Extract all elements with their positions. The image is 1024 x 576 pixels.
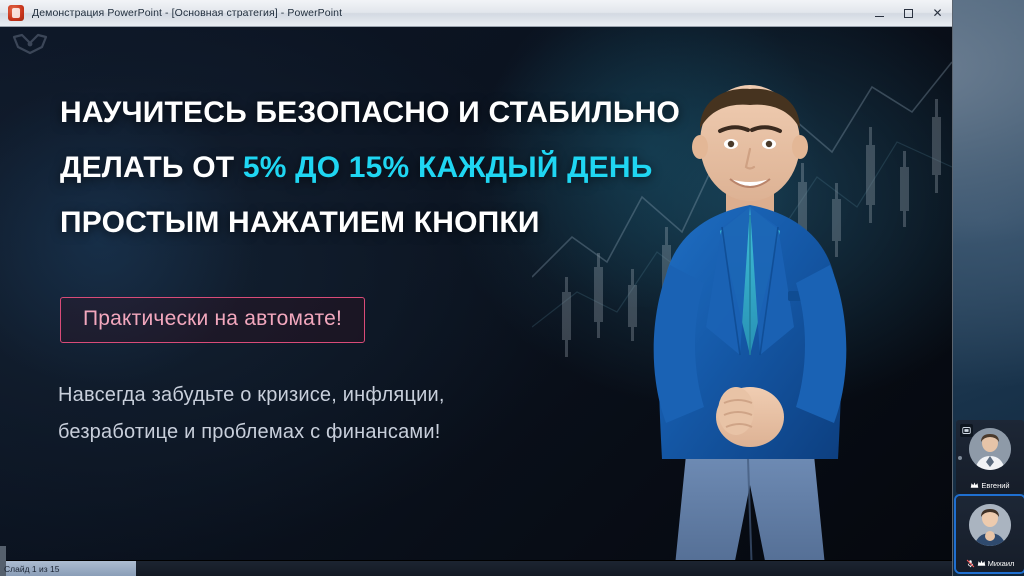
brand-mark-logo	[8, 31, 52, 61]
headline-line-2-prefix: ДЕЛАТЬ ОТ	[60, 151, 243, 184]
window-titlebar[interactable]: Демонстрация PowerPoint - [Основная стра…	[0, 0, 952, 27]
avatar	[969, 504, 1011, 546]
video-call-rail: Евгений	[952, 0, 1024, 576]
headline-line-3: ПРОСТЫМ НАЖАТИЕМ КНОПКИ	[60, 195, 680, 250]
slide-canvas[interactable]: НАУЧИТЕСЬ БЕЗОПАСНО И СТАБИЛЬНО ДЕЛАТЬ О…	[0, 27, 952, 560]
headline-line-2: ДЕЛАТЬ ОТ 5% ДО 15% КАЖДЫЙ ДЕНЬ	[60, 140, 680, 195]
maximize-button[interactable]	[894, 0, 923, 26]
window-title: Демонстрация PowerPoint - [Основная стра…	[32, 7, 342, 19]
screenshot-root: Демонстрация PowerPoint - [Основная стра…	[0, 0, 1024, 576]
close-icon: ✕	[932, 7, 942, 19]
close-button[interactable]: ✕	[923, 0, 952, 26]
participant-tile-evgeniy[interactable]: Евгений	[956, 420, 1024, 494]
tile-label: Евгений	[956, 481, 1024, 490]
slide-subtext: Навсегда забудьте о кризисе, инфляции, б…	[58, 377, 528, 451]
slide-counter: Слайд 1 из 15	[0, 564, 59, 574]
tile-label: Михаил	[956, 559, 1024, 568]
crown-icon	[970, 481, 979, 490]
mic-muted-icon	[966, 559, 975, 568]
subtext-line-2: безработице и проблемах с финансами!	[58, 414, 528, 451]
cta-box: Практически на автомате!	[60, 297, 365, 343]
window-controls: ✕	[865, 0, 952, 26]
participant-tile-mihail[interactable]: Михаил	[956, 496, 1024, 572]
participant-name: Евгений	[981, 481, 1009, 490]
tile-indicator-dot	[958, 456, 962, 460]
avatar	[969, 428, 1011, 470]
headline-accent: 5% ДО 15% КАЖДЫЙ ДЕНЬ	[243, 151, 653, 184]
headline-line-1: НАУЧИТЕСЬ БЕЗОПАСНО И СТАБИЛЬНО	[60, 85, 680, 140]
participant-name: Михаил	[988, 559, 1015, 568]
pin-video-icon[interactable]	[960, 424, 973, 437]
powerpoint-icon	[8, 5, 24, 21]
minimize-button[interactable]	[865, 0, 894, 26]
minimize-icon	[875, 16, 884, 17]
slide-headline: НАУЧИТЕСЬ БЕЗОПАСНО И СТАБИЛЬНО ДЕЛАТЬ О…	[60, 85, 680, 250]
crown-icon	[977, 559, 986, 568]
maximize-icon	[904, 9, 913, 18]
status-bar: Слайд 1 из 15	[0, 560, 952, 576]
powerpoint-window: Демонстрация PowerPoint - [Основная стра…	[0, 0, 952, 576]
subtext-line-1: Навсегда забудьте о кризисе, инфляции,	[58, 377, 528, 414]
cta-text: Практически на автомате!	[83, 307, 342, 331]
